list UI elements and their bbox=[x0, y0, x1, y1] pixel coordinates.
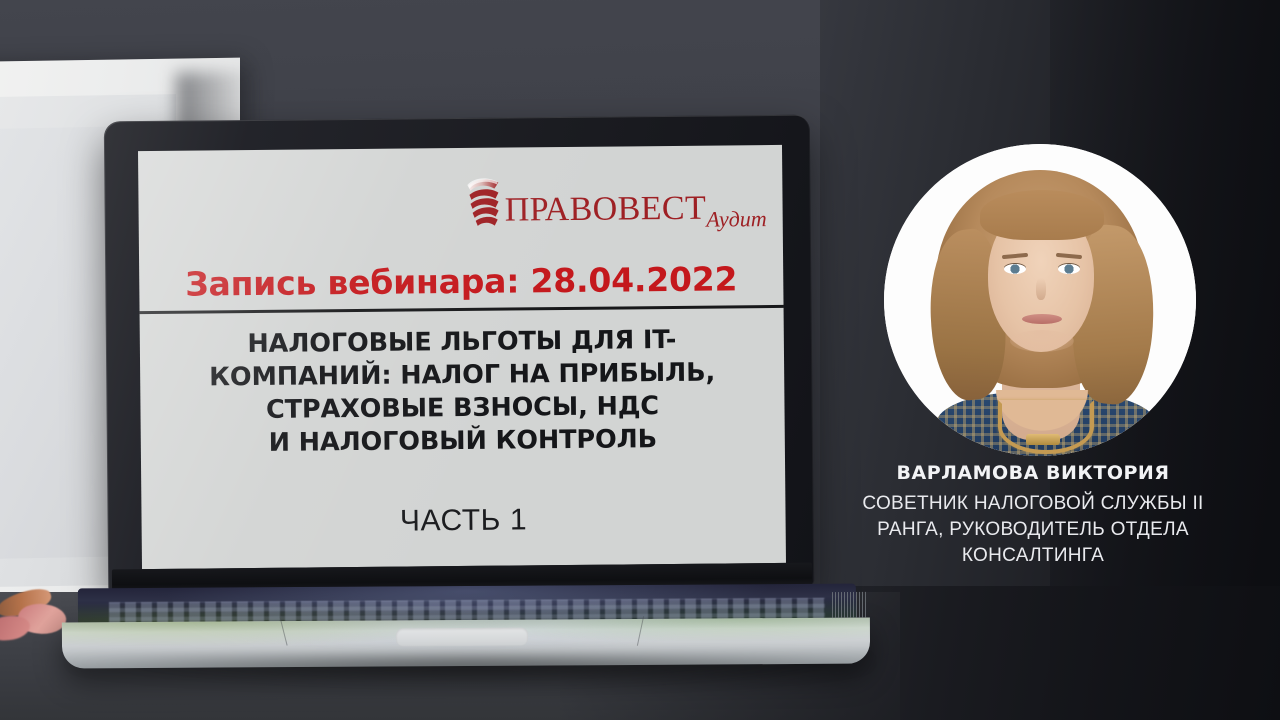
speaker-role: СОВЕТНИК НАЛОГОВОЙ СЛУЖБЫ II РАНГА, РУКО… bbox=[796, 491, 1270, 570]
spiral-ribbon-icon bbox=[464, 176, 503, 230]
slide-part-label: ЧАСТЬ 1 bbox=[163, 501, 763, 541]
brand-logo: ПРАВОВЕСТ Аудит bbox=[464, 173, 766, 230]
speaker-role-line: СОВЕТНИК НАЛОГОВОЙ СЛУЖБЫ II bbox=[796, 491, 1270, 517]
subheadline-line: И НАЛОГОВЫЙ КОНТРОЛЬ bbox=[163, 423, 763, 462]
logo-wordmark: ПРАВОВЕСТ bbox=[505, 192, 707, 228]
slide-divider bbox=[140, 305, 784, 314]
speaker-credits: ВАРЛАМОВА ВИКТОРИЯ СОВЕТНИК НАЛОГОВОЙ СЛ… bbox=[796, 462, 1270, 570]
laptop-drop-shadow bbox=[70, 658, 870, 684]
laptop-screen: ПРАВОВЕСТ Аудит Запись вебинара: 28.04.2… bbox=[138, 145, 786, 569]
scene: ПРАВОВЕСТ Аудит Запись вебинара: 28.04.2… bbox=[0, 0, 1280, 720]
laptop: ПРАВОВЕСТ Аудит Запись вебинара: 28.04.2… bbox=[0, 0, 920, 720]
avatar-chin bbox=[1010, 330, 1074, 352]
lid-open-notch bbox=[396, 628, 528, 647]
speaker-avatar bbox=[884, 144, 1196, 456]
slide-headline: Запись вебинара: 28.04.2022 bbox=[147, 259, 775, 304]
avatar-necklace-pendant bbox=[1026, 434, 1060, 445]
avatar-eye-left bbox=[1004, 264, 1026, 274]
logo-sub-wordmark: Аудит bbox=[706, 208, 767, 231]
speaker-name: ВАРЛАМОВА ВИКТОРИЯ bbox=[796, 462, 1270, 484]
avatar-eye-right bbox=[1058, 264, 1080, 274]
slide-subheadline: НАЛОГОВЫЕ ЛЬГОТЫ ДЛЯ IT- КОМПАНИЙ: НАЛОГ… bbox=[162, 323, 763, 461]
avatar-mouth bbox=[1022, 314, 1062, 324]
speaker-role-line: КОНСАЛТИНГА bbox=[796, 543, 1270, 569]
speaker-role-line: РАНГА, РУКОВОДИТЕЛЬ ОТДЕЛА bbox=[796, 517, 1270, 543]
avatar-nose bbox=[1036, 278, 1046, 300]
avatar-necklace bbox=[998, 400, 1094, 454]
speaker-vent bbox=[832, 592, 866, 618]
presentation-slide: ПРАВОВЕСТ Аудит Запись вебинара: 28.04.2… bbox=[138, 145, 786, 569]
subheadline-line: КОМПАНИЙ: НАЛОГ НА ПРИБЫЛЬ, bbox=[162, 356, 762, 395]
avatar-bangs bbox=[980, 190, 1104, 240]
